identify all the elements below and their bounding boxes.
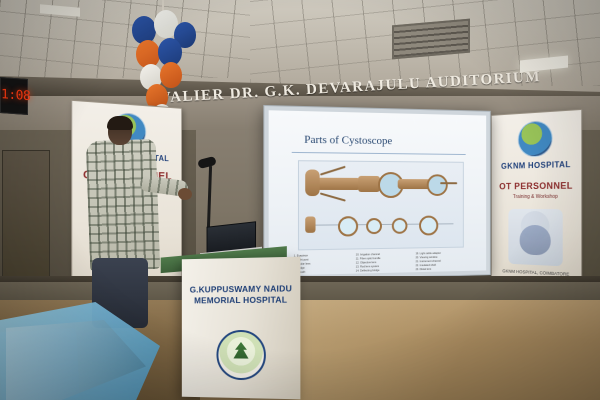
projection-screen: Parts of Cystoscope bbox=[263, 105, 490, 281]
presenter-torso bbox=[86, 139, 160, 271]
presenter-hair bbox=[107, 116, 133, 130]
auditorium-photo: AVALIER DR. G.K. DEVARAJULU AUDITORIUM 1… bbox=[0, 0, 600, 400]
hospital-crest-icon bbox=[216, 330, 265, 380]
banner-right-title: OT PERSONNEL bbox=[492, 180, 581, 191]
slide-legend-column-middle: 10. Irrigation channel 11. Fiber optic b… bbox=[356, 252, 410, 275]
floor-light-reflection bbox=[250, 300, 600, 400]
slide-legend: 1. Eyepiece 2. Light post 3. Ocular lens… bbox=[294, 251, 468, 275]
slide-content: Parts of Cystoscope bbox=[269, 110, 487, 275]
legend-item: 24. Prism assembly bbox=[416, 271, 468, 276]
ac-vent-icon bbox=[392, 19, 470, 60]
slide-title-rule bbox=[292, 152, 466, 155]
banner-right-logo-icon bbox=[518, 120, 553, 158]
side-door bbox=[2, 150, 50, 282]
ceiling-panel-grid-left bbox=[0, 0, 250, 78]
banner-right-artwork bbox=[508, 209, 562, 266]
cystoscope-diagram bbox=[298, 160, 464, 250]
balloon bbox=[160, 62, 182, 88]
banner-right-subtitle: Training & Workshop bbox=[492, 194, 581, 201]
digital-clock: 1:08 bbox=[0, 77, 28, 115]
slide-legend-column-right: 19. Light cable adapter 20. Viewing wind… bbox=[416, 251, 468, 275]
slide-legend-column-left: 1. Eyepiece 2. Light post 3. Ocular lens… bbox=[294, 254, 350, 276]
banner-right-org: GKNM HOSPITAL bbox=[492, 160, 581, 172]
slide-title: Parts of Cystoscope bbox=[304, 134, 392, 148]
podium-sign-line2: MEMORIAL HOSPITAL bbox=[182, 294, 301, 306]
podium-sign: G.KUPPUSWAMY NAIDU MEMORIAL HOSPITAL bbox=[182, 283, 301, 306]
banner-right: GKNM HOSPITAL OT PERSONNEL Training & Wo… bbox=[491, 109, 582, 295]
podium: G.KUPPUSWAMY NAIDU MEMORIAL HOSPITAL bbox=[182, 257, 301, 400]
